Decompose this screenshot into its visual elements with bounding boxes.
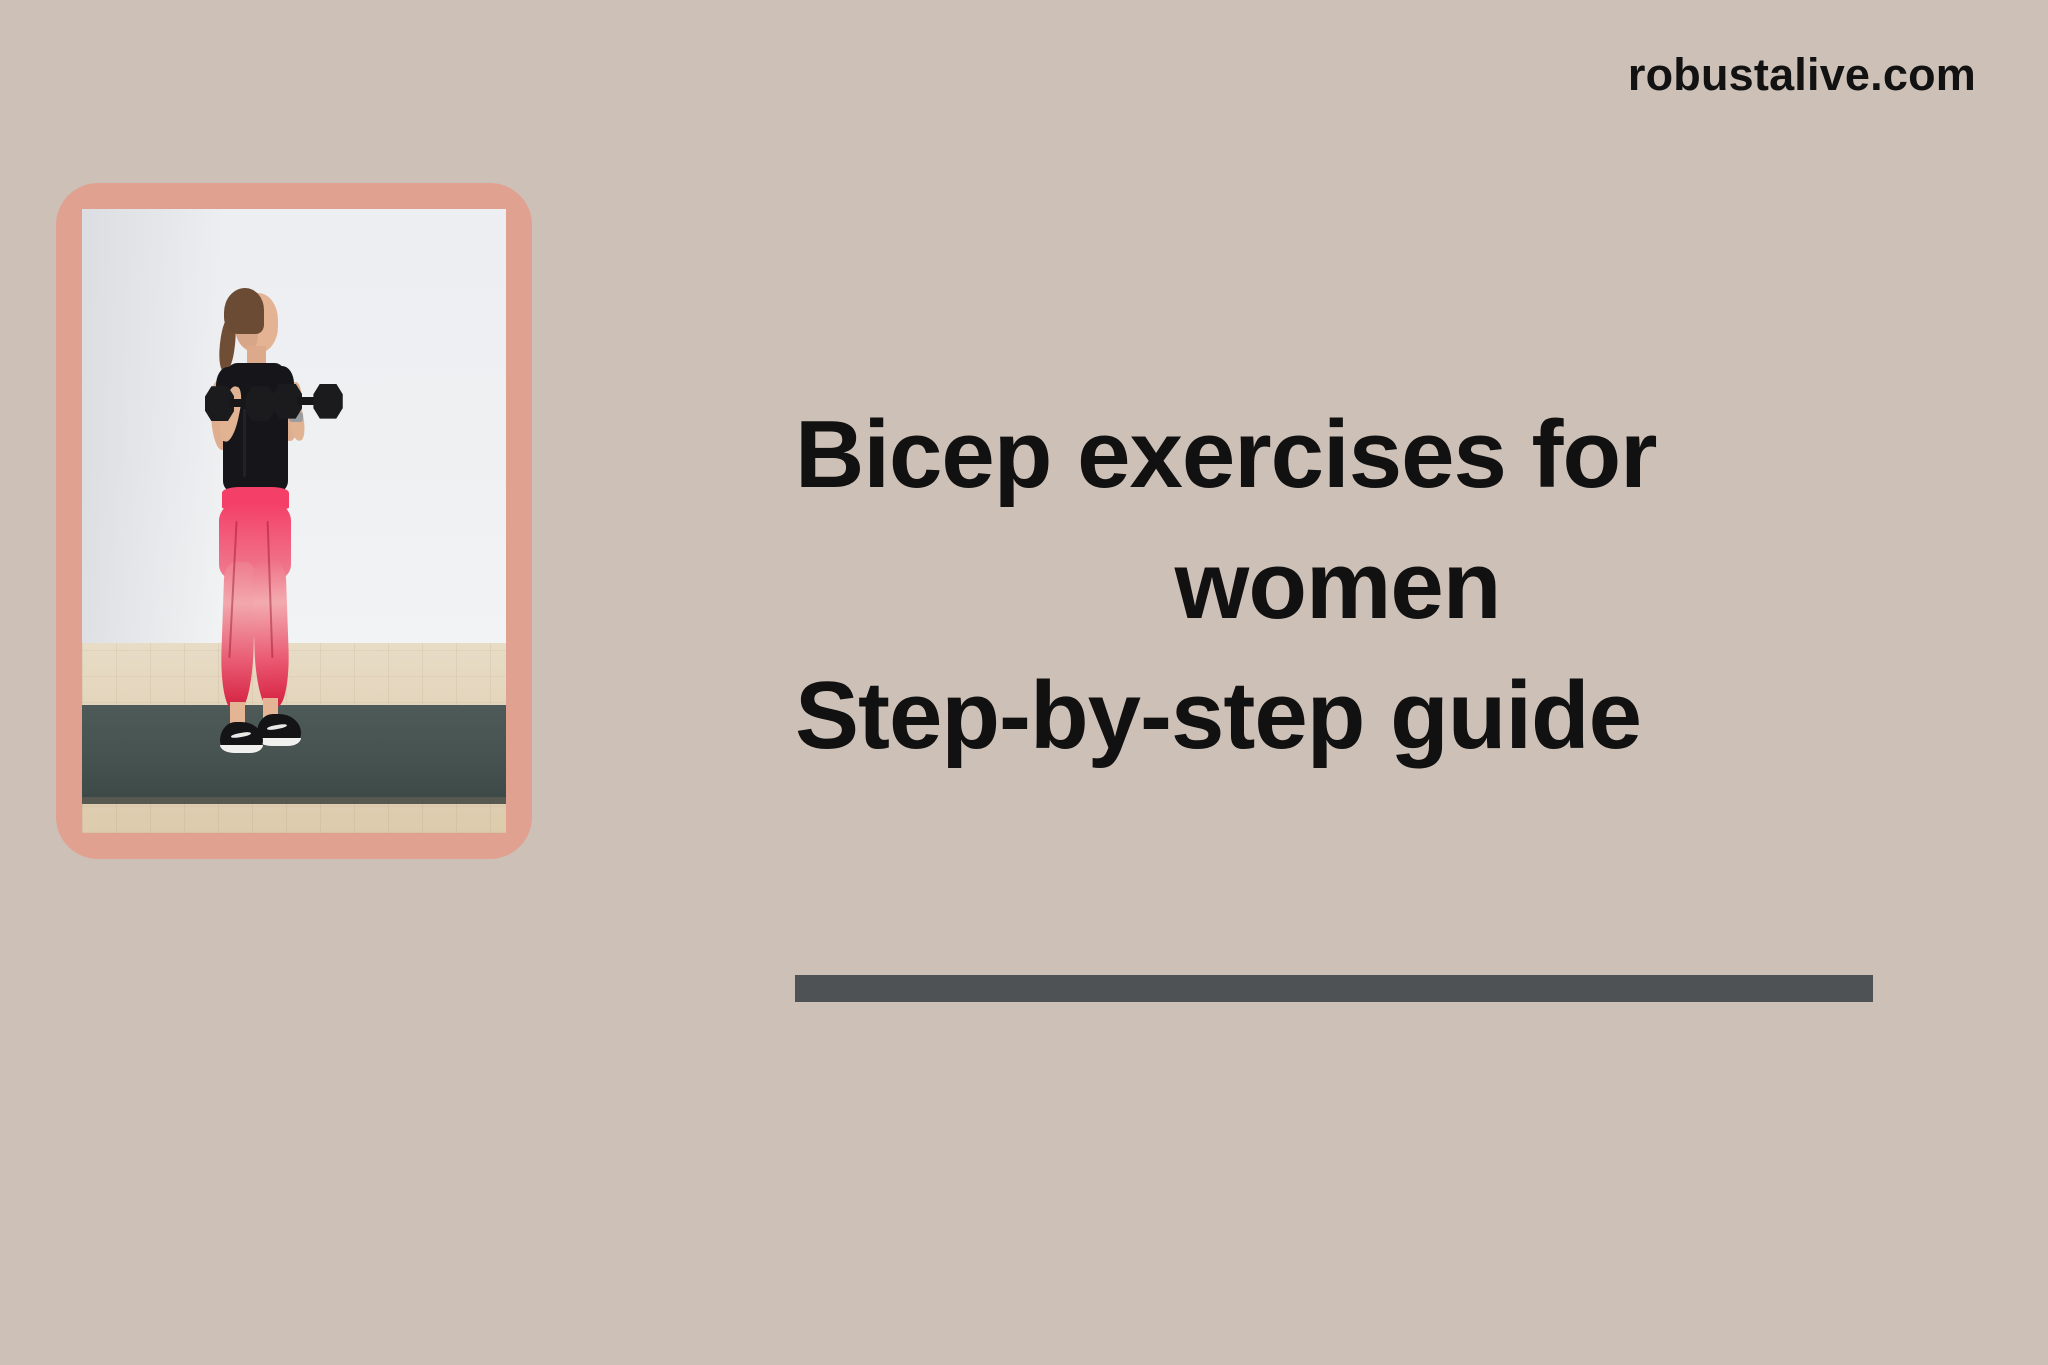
headline-divider-bar xyxy=(795,975,1873,1002)
right-sneaker xyxy=(257,714,301,745)
site-watermark: robustalive.com xyxy=(1628,52,1976,97)
left-leg xyxy=(219,561,256,709)
poster-canvas: robustalive.com xyxy=(0,0,2048,1365)
right-sneaker-sole xyxy=(257,738,301,746)
dumbbell-right xyxy=(273,384,343,419)
left-sneaker-stripe xyxy=(230,731,250,739)
left-sneaker-sole xyxy=(220,745,263,753)
hero-photo xyxy=(82,209,506,833)
poster-headline: Bicep exercises for women Step-by-step g… xyxy=(795,390,1880,782)
headline-line-3: Step-by-step guide xyxy=(795,651,1880,782)
right-sneaker-stripe xyxy=(267,723,288,731)
dumbbell-left-head-b xyxy=(246,386,275,421)
headline-line-1: Bicep exercises for xyxy=(795,390,1880,521)
hair xyxy=(224,288,264,334)
headline-line-2: women xyxy=(795,521,1880,652)
person-figure xyxy=(82,209,506,833)
dumbbell-left xyxy=(205,386,275,421)
dumbbell-right-head-b xyxy=(313,384,342,419)
photo-frame xyxy=(56,183,532,859)
